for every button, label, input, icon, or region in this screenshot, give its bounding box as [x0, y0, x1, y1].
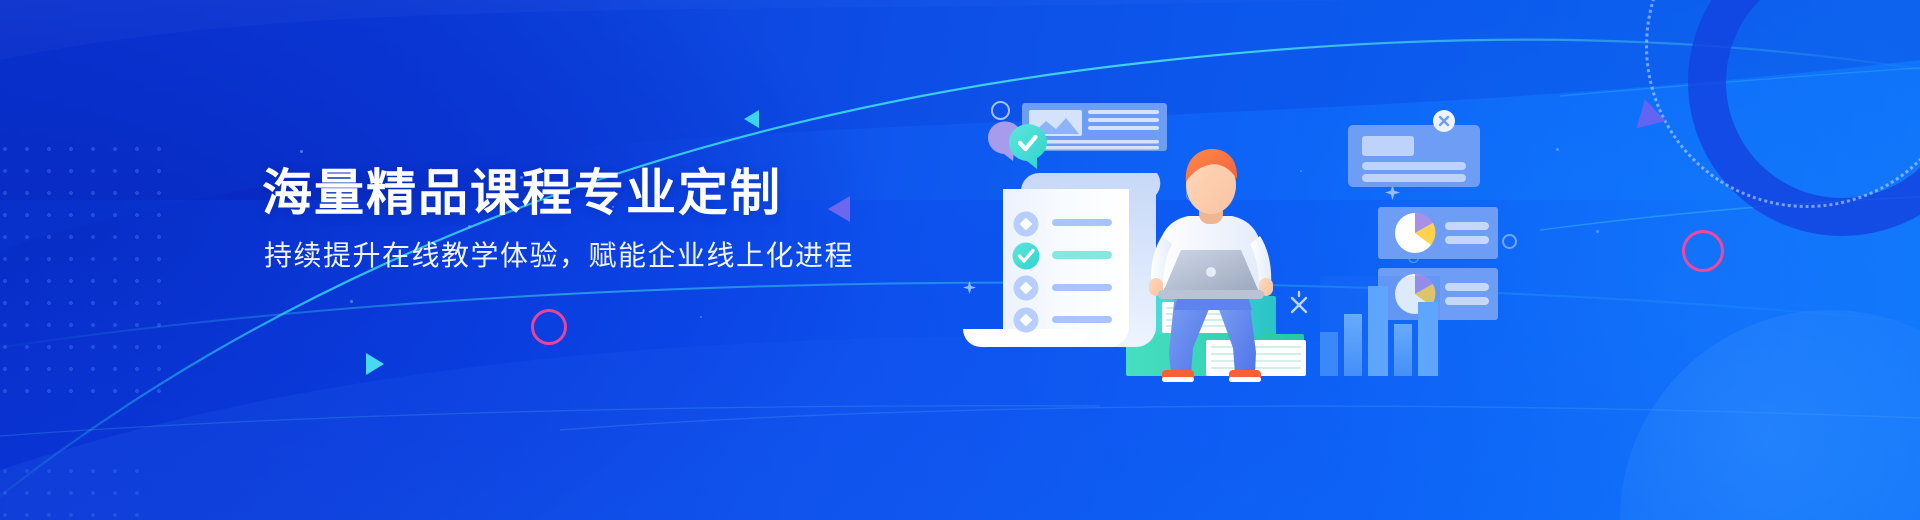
sparkle-cross-icon: [1292, 292, 1306, 312]
particle-dot: [700, 316, 702, 318]
bar-chart: [1320, 276, 1440, 376]
page-subtitle: 持续提升在线教学体验，赋能企业线上化进程: [264, 242, 854, 270]
cyan-play-triangle-decoration: [366, 353, 384, 375]
pink-circle-decoration: [1682, 230, 1724, 272]
chat-bubble-check-icon: [988, 121, 1047, 169]
pink-circle-decoration-2: [531, 309, 567, 345]
particle-dot: [300, 150, 303, 153]
pie-chart-card-1: [1378, 207, 1498, 259]
dot-grid-pattern-bottom: [0, 460, 144, 520]
online-education-illustration: [930, 80, 1650, 410]
particle-dot: [350, 300, 353, 303]
hero-banner: 海量精品课程专业定制 持续提升在线教学体验，赋能企业线上化进程: [0, 0, 1920, 520]
message-card: [1348, 110, 1480, 187]
cyan-triangle-decoration-2: [744, 110, 759, 128]
page-title: 海量精品课程专业定制: [262, 168, 854, 218]
dot-grid-pattern: [0, 138, 176, 398]
checklist-document: [963, 173, 1160, 347]
banner-copy: 海量精品课程专业定制 持续提升在线教学体验，赋能企业线上化进程: [262, 168, 854, 270]
